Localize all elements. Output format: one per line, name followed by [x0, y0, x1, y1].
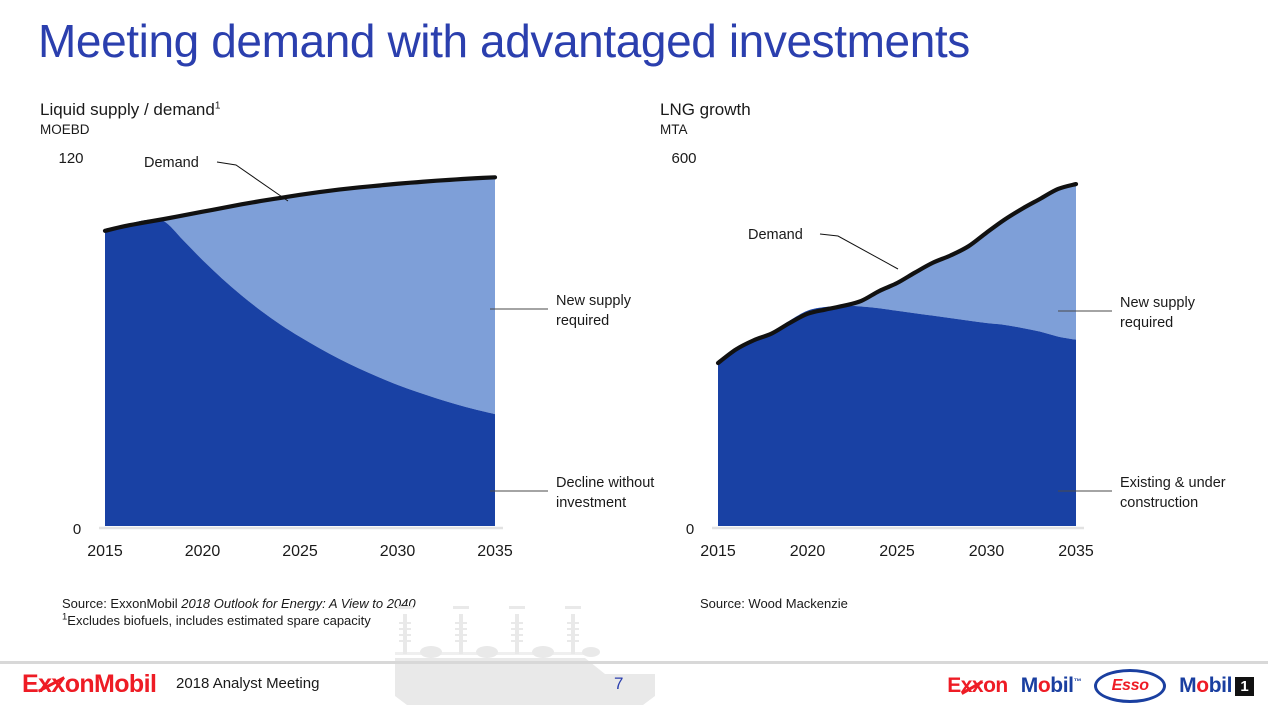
page-title: Meeting demand with advantaged investmen…: [38, 14, 970, 68]
source-title-liquid: 2018 Outlook for Energy: A View to 2040: [181, 596, 415, 611]
panel-title-lng: LNG growth: [660, 100, 1260, 120]
panel-title-liquid-footnote: 1: [215, 100, 221, 111]
brand-logo-esso: Esso: [1094, 669, 1166, 703]
brand-logo-strip: Exxon Mobil™ Esso Mobil 1: [947, 669, 1254, 703]
new-supply-label-line1-liquid: New supply: [556, 293, 632, 309]
y-axis-min-label-liquid: 0: [73, 521, 81, 538]
brand-logo-mobil1: Mobil 1: [1179, 674, 1254, 698]
chart-panel-lng-growth: LNG growth MTA 600 0 2015202020252030203…: [660, 100, 1260, 611]
x-tick-2030: 2030: [969, 543, 1005, 560]
existing-label-line1-lng: Existing & under: [1120, 475, 1226, 491]
panel-title-lng-text: LNG growth: [660, 100, 751, 119]
x-tick-2030: 2030: [380, 543, 416, 560]
demand-callout-label-liquid: Demand: [144, 155, 199, 171]
x-axis-ticks-liquid: 20152020202520302035: [87, 543, 513, 560]
footer-divider: [0, 661, 1268, 664]
liquid-supply-demand-chart: 120 0 20152020202520302035 Demand New su…: [40, 141, 640, 611]
decline-label-line1-liquid: Decline without: [556, 475, 654, 491]
chart-panel-liquid-supply-demand: Liquid supply / demand1 MOEBD 120 0 2015…: [40, 100, 640, 611]
lng-growth-chart: 600 0 20152020202520302035 Demand New su…: [660, 141, 1260, 611]
x-tick-2015: 2015: [87, 543, 123, 560]
y-axis-max-label-lng: 600: [671, 150, 696, 167]
existing-label-line2-lng: construction: [1120, 495, 1198, 511]
x-tick-2025: 2025: [879, 543, 915, 560]
exxonmobil-logo: ExxonMobil: [22, 670, 156, 698]
x-tick-2020: 2020: [790, 543, 826, 560]
demand-leader-line-lng: [820, 234, 898, 269]
y-axis-min-label-lng: 0: [686, 521, 694, 538]
brand-logo-mobil: Mobil™: [1021, 674, 1081, 698]
new-supply-label-line1-lng: New supply: [1120, 295, 1196, 311]
source-line-liquid: Source: ExxonMobil 2018 Outlook for Ener…: [62, 595, 416, 612]
mobil1-number-badge: 1: [1235, 677, 1254, 696]
x-axis-ticks-lng: 20152020202520302035: [700, 543, 1094, 560]
exxon-crossed-x-small: xx: [961, 674, 983, 698]
x-tick-2020: 2020: [185, 543, 221, 560]
panel-units-liquid: MOEBD: [40, 121, 640, 139]
demand-callout-label-lng: Demand: [748, 227, 803, 243]
brand-logo-exxon: Exxon: [947, 674, 1008, 698]
new-supply-label-line2-liquid: required: [556, 313, 609, 329]
chart-liquid-canvas: 120 0 20152020202520302035 Demand New su…: [40, 141, 640, 611]
source-prefix-liquid: Source: ExxonMobil: [62, 596, 181, 611]
chart-lng-canvas: 600 0 20152020202520302035 Demand New su…: [660, 141, 1260, 611]
trademark-mark: ™: [1074, 677, 1082, 686]
footnote-line-liquid: 1Excludes biofuels, includes estimated s…: [62, 612, 416, 629]
demand-leader-line-liquid: [217, 162, 288, 201]
footer-bar: ExxonMobil 2018 Analyst Meeting 7 Exxon …: [0, 661, 1268, 705]
footnote-text-liquid: Excludes biofuels, includes estimated sp…: [67, 613, 371, 628]
page-number: 7: [614, 674, 623, 694]
panel-units-lng: MTA: [660, 121, 1260, 139]
y-axis-max-label-liquid: 120: [58, 150, 83, 167]
area-existing-under-construction-lng: [718, 306, 1076, 526]
panel-title-liquid: Liquid supply / demand1: [40, 100, 640, 120]
source-note-lng: Source: Wood Mackenzie: [700, 595, 848, 612]
source-note-liquid: Source: ExxonMobil 2018 Outlook for Ener…: [62, 595, 416, 629]
source-line-lng: Source: Wood Mackenzie: [700, 595, 848, 612]
panel-title-liquid-text: Liquid supply / demand: [40, 100, 215, 119]
liquid-plot-areas: [105, 177, 495, 526]
mobil1-wordmark: Mobil: [1179, 674, 1232, 698]
x-tick-2035: 2035: [477, 543, 513, 560]
decline-label-line2-liquid: investment: [556, 495, 626, 511]
mobil1-red-o: o: [1196, 674, 1208, 697]
mobil-red-o: o: [1038, 674, 1050, 697]
x-tick-2035: 2035: [1058, 543, 1094, 560]
x-tick-2015: 2015: [700, 543, 736, 560]
exxon-crossed-x: xx: [38, 670, 65, 698]
new-supply-label-line2-lng: required: [1120, 315, 1173, 331]
footer-meeting-label: 2018 Analyst Meeting: [176, 675, 319, 692]
x-tick-2025: 2025: [282, 543, 318, 560]
